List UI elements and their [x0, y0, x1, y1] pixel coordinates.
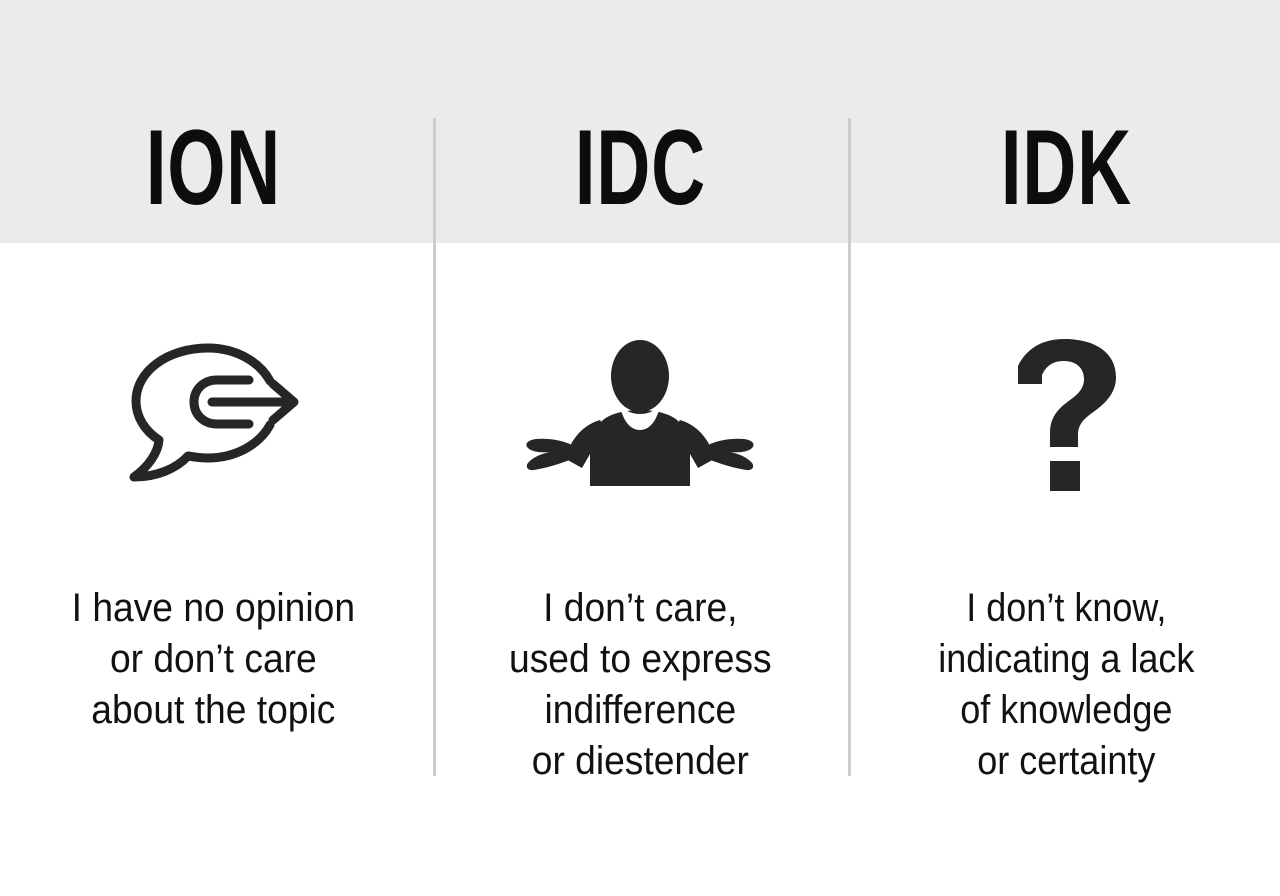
- question-mark-icon: [853, 330, 1280, 500]
- column-heading-idc: IDC: [491, 114, 790, 221]
- comparison-columns: ION I have no opinion or don’t care abou…: [0, 0, 1280, 896]
- column-heading-ion: ION: [64, 114, 363, 221]
- column-heading-idk: IDK: [917, 114, 1216, 221]
- shrugging-person-icon: [427, 330, 854, 500]
- column-description-idc: I don’t care, used to express indifferen…: [442, 583, 839, 787]
- column-divider-2: [848, 118, 851, 776]
- column-idk: IDK I don’t know, indicating a lack of k…: [853, 0, 1280, 896]
- column-idc: IDC I don’t care, used to express indiff…: [427, 0, 854, 896]
- speech-bubble-exit-arrow-icon: [0, 330, 427, 500]
- column-description-idk: I don’t know, indicating a lack of knowl…: [875, 583, 1259, 787]
- column-description-ion: I have no opinion or don’t care about th…: [15, 583, 412, 736]
- column-ion: ION I have no opinion or don’t care abou…: [0, 0, 427, 896]
- column-divider-1: [433, 118, 436, 776]
